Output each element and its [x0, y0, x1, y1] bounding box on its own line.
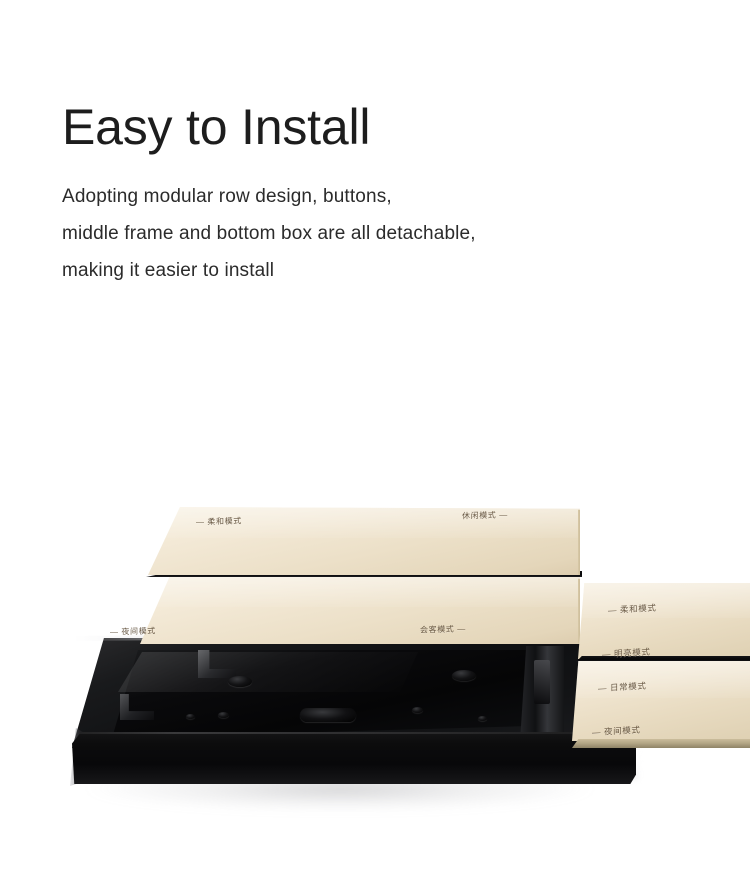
subtitle-line-1: Adopting modular row design, buttons,: [62, 178, 712, 215]
mode-label-night-main: — 夜间模式: [110, 627, 156, 636]
intro-text-block: Easy to Install Adopting modular row des…: [62, 100, 712, 289]
panel-sheen: [578, 583, 750, 618]
mode-label-soft-top: — 柔和模式: [196, 517, 242, 526]
mode-label-leisure: 休闲模式 —: [462, 511, 508, 520]
page-subtitle: Adopting modular row design, buttons, mi…: [62, 178, 712, 289]
subtitle-line-3: making it easier to install: [62, 252, 712, 289]
detached-module-1: [578, 583, 750, 659]
page-title: Easy to Install: [62, 100, 712, 154]
panel-right-edge: [578, 510, 586, 576]
mode-label-guest: 会客模式 —: [420, 625, 466, 634]
subtitle-line-2: middle frame and bottom box are all deta…: [62, 215, 712, 252]
panel-sheen: [140, 576, 580, 607]
module-bottom-edge: [572, 739, 750, 748]
face-panel-bottom-row: [140, 576, 580, 644]
